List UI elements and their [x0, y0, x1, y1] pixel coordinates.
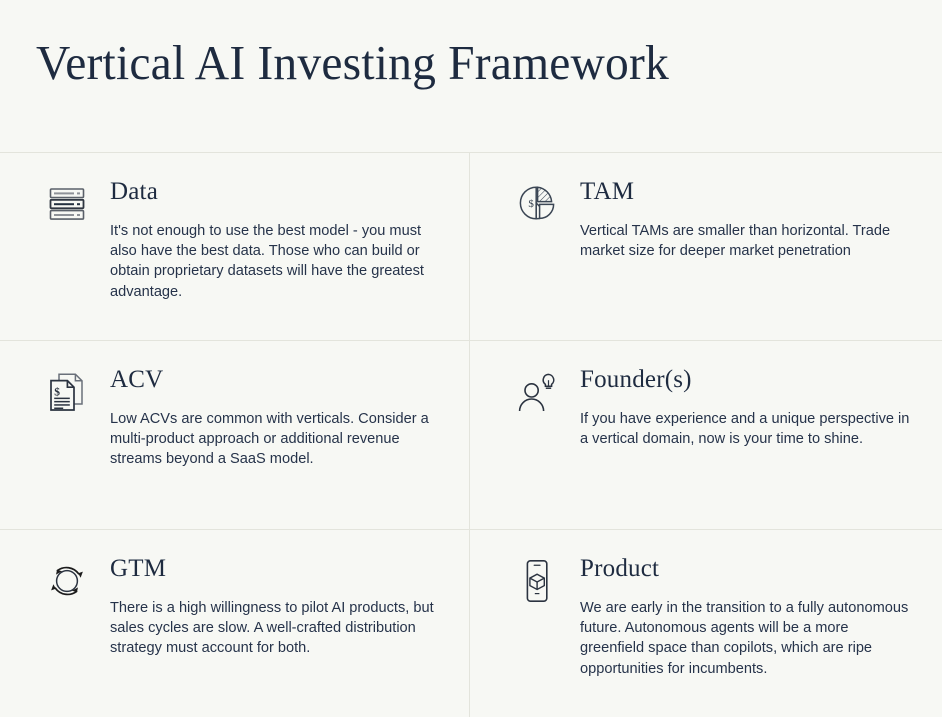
card-body: Data It's not enough to use the best mod… — [110, 177, 439, 302]
card-acv: $ ACV Low ACVs are common with verticals… — [0, 340, 470, 529]
card-text: We are early in the transition to a full… — [580, 598, 912, 679]
card-text: It's not enough to use the best model - … — [110, 221, 439, 302]
svg-text:$: $ — [528, 198, 534, 210]
card-text: Vertical TAMs are smaller than horizonta… — [580, 221, 910, 261]
server-stack-icon — [44, 181, 90, 227]
card-body: Product We are early in the transition t… — [580, 554, 912, 679]
card-title: Data — [110, 177, 439, 207]
card-tam: $ TAM Vertical TAMs are smaller than hor… — [470, 153, 942, 340]
card-body: TAM Vertical TAMs are smaller than horiz… — [580, 177, 912, 261]
card-title: Product — [580, 554, 912, 584]
card-body: Founder(s) If you have experience and a … — [580, 365, 912, 449]
card-body: GTM There is a high willingness to pilot… — [110, 554, 439, 659]
title-area: Vertical AI Investing Framework — [0, 0, 942, 152]
card-title: Founder(s) — [580, 365, 912, 395]
card-text: Low ACVs are common with verticals. Cons… — [110, 409, 439, 470]
card-founders: Founder(s) If you have experience and a … — [470, 340, 942, 529]
card-text: If you have experience and a unique pers… — [580, 409, 910, 449]
circular-arrows-icon — [44, 558, 90, 604]
card-gtm: GTM There is a high willingness to pilot… — [0, 529, 470, 717]
person-lightbulb-icon — [514, 369, 560, 415]
pie-chart-dollar-icon: $ — [514, 181, 560, 227]
phone-cube-icon — [514, 558, 560, 604]
card-product: Product We are early in the transition t… — [470, 529, 942, 717]
card-title: ACV — [110, 365, 439, 395]
card-text: There is a high willingness to pilot AI … — [110, 598, 439, 659]
card-body: ACV Low ACVs are common with verticals. … — [110, 365, 439, 470]
documents-dollar-icon: $ — [44, 369, 90, 415]
framework-page: Vertical AI Investing Framework Data — [0, 0, 942, 716]
card-data: Data It's not enough to use the best mod… — [0, 153, 470, 340]
svg-text:$: $ — [54, 385, 60, 398]
page-title: Vertical AI Investing Framework — [36, 34, 915, 92]
framework-grid: Data It's not enough to use the best mod… — [0, 152, 942, 717]
card-title: TAM — [580, 177, 912, 207]
card-title: GTM — [110, 554, 439, 584]
